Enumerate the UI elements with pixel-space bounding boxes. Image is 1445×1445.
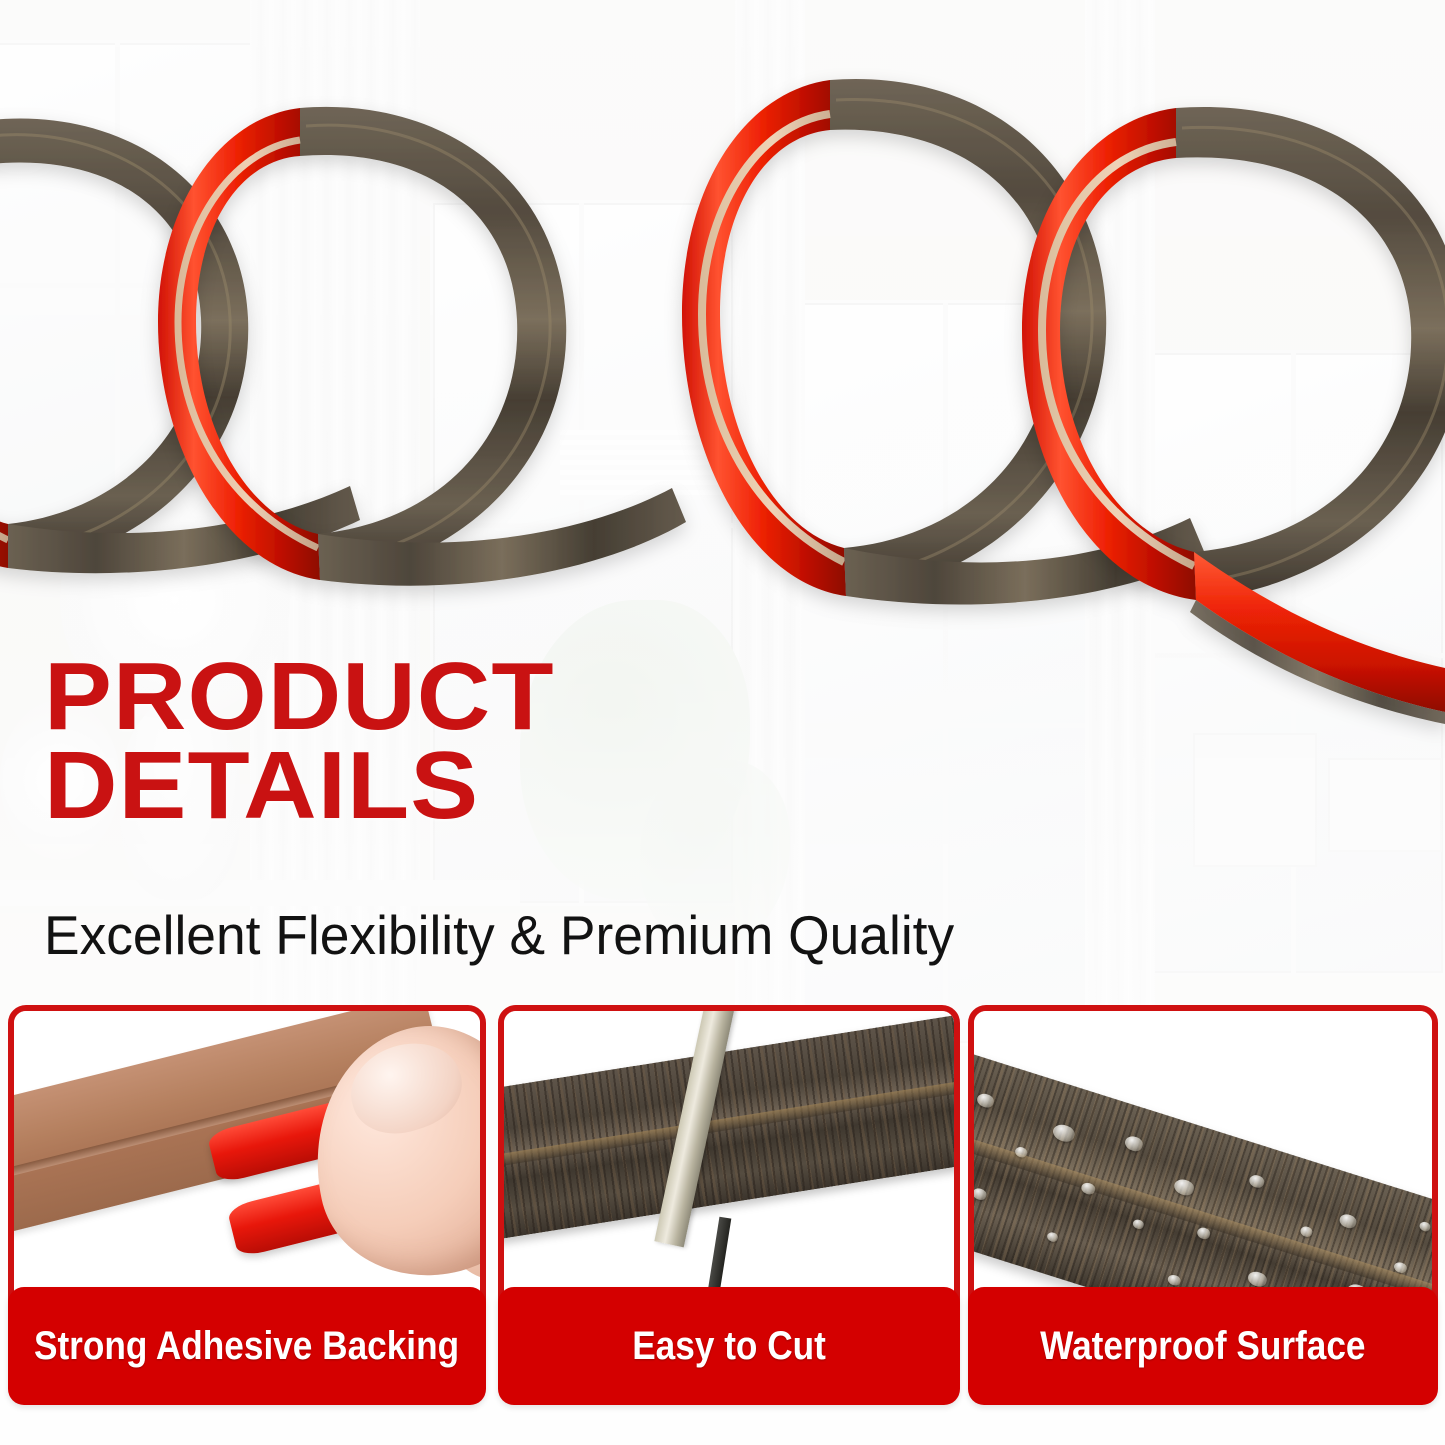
caption-waterproof[interactable]: Waterproof Surface	[968, 1287, 1438, 1405]
headline-line-1: PRODUCT	[44, 652, 555, 741]
feature-panel-easy-cut[interactable]	[498, 1005, 960, 1327]
caption-easy-cut-label: Easy to Cut	[632, 1324, 826, 1369]
headline-block: PRODUCT DETAILS	[44, 652, 526, 831]
subheadline: Excellent Flexibility & Premium Quality	[44, 908, 954, 963]
caption-adhesive-label: Strong Adhesive Backing	[34, 1324, 459, 1369]
product-details-infographic: PRODUCT DETAILS Excellent Flexibility & …	[0, 0, 1445, 1445]
photo-easy-to-cut	[504, 1011, 954, 1321]
photo-waterproof-surface	[974, 1011, 1432, 1321]
feature-panel-adhesive[interactable]	[8, 1005, 486, 1327]
feature-panels: Strong Adhesive Backing Easy to Cut Wate…	[0, 1005, 1445, 1445]
caption-easy-cut[interactable]: Easy to Cut	[498, 1287, 960, 1405]
headline-line-2: DETAILS	[44, 741, 555, 830]
wet-woodgrain-plank	[974, 1041, 1432, 1321]
caption-adhesive[interactable]: Strong Adhesive Backing	[8, 1287, 486, 1405]
photo-adhesive-backing	[14, 1011, 480, 1321]
caption-waterproof-label: Waterproof Surface	[1040, 1324, 1365, 1369]
woodgrain-strip	[504, 1011, 954, 1246]
feature-panel-waterproof[interactable]	[968, 1005, 1438, 1327]
